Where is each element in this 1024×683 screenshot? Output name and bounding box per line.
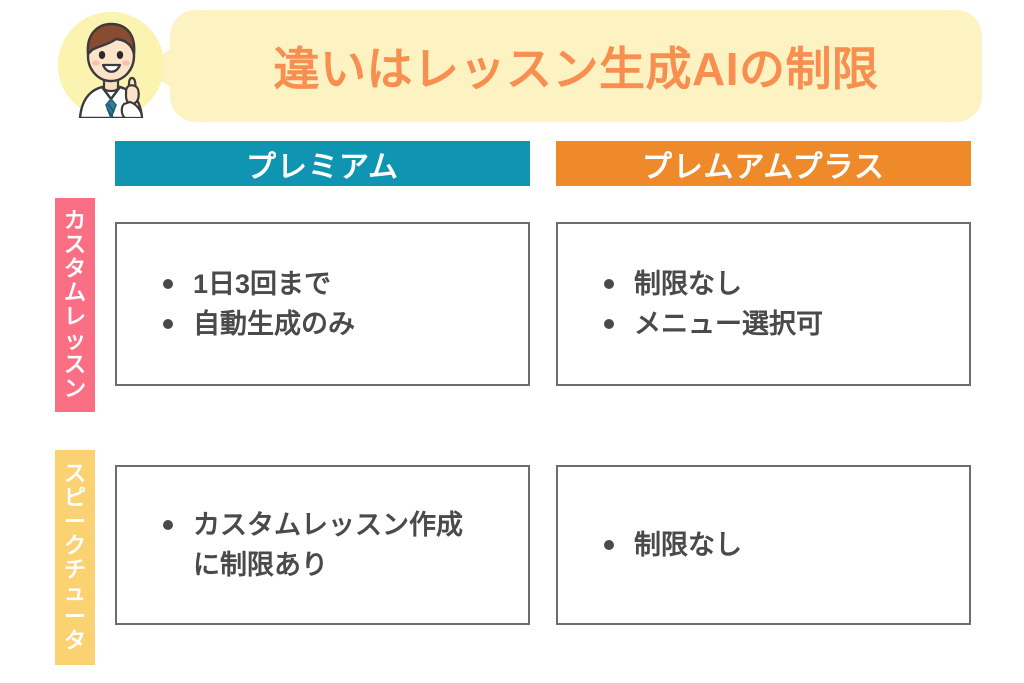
row-label-char: ュ: [64, 581, 86, 605]
row-label-char: タ: [64, 257, 86, 281]
row-label-char: ッ: [64, 329, 86, 353]
row-label-custom-lesson: カ ス タ ム レ ッ ス ン: [55, 198, 95, 412]
column-header-premium: プレミアム: [115, 141, 530, 186]
comparison-infographic: 違いはレッスン生成AIの制限 プレミアム プレムアムプラス カ ス タ ム レ …: [0, 0, 1024, 683]
cell-speak-tutor-premium: カスタムレッスン作成に制限あり: [115, 465, 530, 625]
row-label-char: ー: [64, 510, 86, 534]
row-label-char: ー: [64, 605, 86, 629]
row-label-char: ム: [64, 281, 86, 305]
row-label-char: ク: [64, 534, 86, 558]
row-label-char: ス: [64, 233, 86, 257]
row-label-char: タ: [64, 629, 86, 653]
cell-speak-tutor-premium-plus: 制限なし: [556, 465, 971, 625]
list-item: 1日3回まで: [159, 264, 528, 305]
column-header-premium-plus: プレムアムプラス: [556, 141, 971, 186]
cell-custom-lesson-premium-plus: 制限なし メニュー選択可: [556, 222, 971, 386]
row-label-char: レ: [64, 305, 86, 329]
cell-custom-lesson-premium: 1日3回まで 自動生成のみ: [115, 222, 530, 386]
male-student-pointing-up-avatar-icon: [58, 12, 164, 118]
page-title: 違いはレッスン生成AIの制限: [170, 10, 982, 122]
list-item: 制限なし: [600, 264, 969, 305]
header: 違いはレッスン生成AIの制限: [0, 0, 1024, 130]
row-label-char: ス: [64, 462, 86, 486]
bullet-list: カスタムレッスン作成に制限あり: [159, 505, 528, 586]
row-label-char: ン: [64, 377, 86, 401]
list-item: メニュー選択可: [600, 304, 969, 345]
row-label-char: チ: [64, 558, 86, 582]
row-label-char: ピ: [64, 486, 86, 510]
row-label-speak-tutor: ス ピ ー ク チ ュ ー タ: [55, 450, 95, 665]
bullet-list: 制限なし: [600, 525, 969, 566]
list-item: 制限なし: [600, 525, 969, 566]
bullet-list: 制限なし メニュー選択可: [600, 264, 969, 345]
list-item: カスタムレッスン作成に制限あり: [159, 505, 528, 586]
row-label-char: ス: [64, 353, 86, 377]
bullet-list: 1日3回まで 自動生成のみ: [159, 264, 528, 345]
speech-bubble: 違いはレッスン生成AIの制限: [170, 10, 982, 122]
row-label-char: カ: [64, 209, 86, 233]
list-item: 自動生成のみ: [159, 304, 528, 345]
